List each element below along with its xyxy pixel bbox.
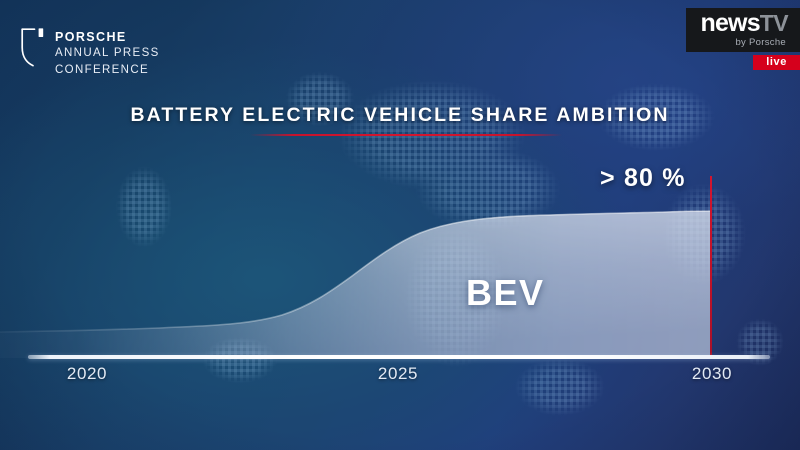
title-underline-rule <box>250 134 562 136</box>
live-badge: live <box>753 55 800 70</box>
porsche-shield-icon <box>20 27 46 67</box>
newstv-live-bug: newsTV by Porsche live <box>686 8 800 70</box>
x-axis-line <box>28 355 770 359</box>
newstv-logo: newsTV by Porsche <box>686 8 800 52</box>
newstv-word-news: news <box>700 9 759 37</box>
event-line-2: CONFERENCE <box>55 63 160 77</box>
newstv-byline: by Porsche <box>700 37 788 48</box>
newstv-word-tv: TV <box>760 10 788 36</box>
x-tick-2020: 2020 <box>42 364 132 384</box>
chart-title: BATTERY ELECTRIC VEHICLE SHARE AMBITION <box>0 104 800 127</box>
target-year-marker-line <box>710 176 712 358</box>
brand-name: PORSCHE <box>55 30 160 44</box>
event-line-1: ANNUAL PRESS <box>55 46 160 60</box>
bev-area-fill <box>0 211 711 358</box>
x-tick-2025: 2025 <box>353 364 443 384</box>
target-value-annotation: > 80 % <box>600 164 686 193</box>
x-tick-2030: 2030 <box>667 364 757 384</box>
conference-logo-text: PORSCHE ANNUAL PRESS CONFERENCE <box>55 27 160 77</box>
series-label-bev: BEV <box>466 272 545 314</box>
porsche-conference-logo: PORSCHE ANNUAL PRESS CONFERENCE <box>20 27 160 77</box>
presentation-slide: PORSCHE ANNUAL PRESS CONFERENCE newsTV b… <box>0 0 800 450</box>
